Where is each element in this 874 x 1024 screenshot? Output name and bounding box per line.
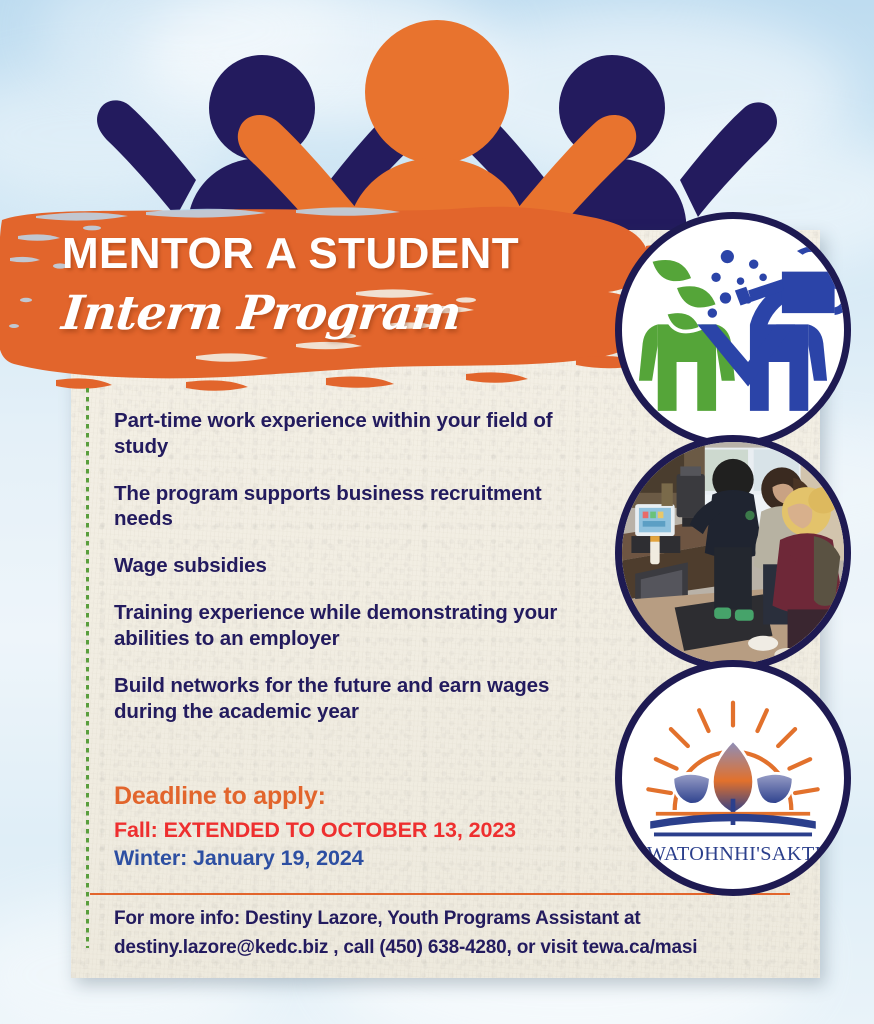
page-title: MENTOR A STUDENT (62, 232, 622, 276)
right-leaf-shape (756, 773, 794, 804)
contact-line-1: For more info: Destiny Lazore, Youth Pro… (114, 905, 814, 934)
list-item: Build networks for the future and earn w… (114, 673, 584, 725)
benefits-list: Part-time work experience within your fi… (114, 408, 584, 745)
mentorship-icon-circle (615, 212, 851, 448)
orange-divider (90, 893, 790, 895)
deadline-block: Deadline to apply: Fall: EXTENDED TO OCT… (114, 782, 634, 871)
deadline-fall: Fall: EXTENDED TO OCTOBER 13, 2023 (114, 818, 634, 843)
watering-mentorship-icon (622, 219, 844, 441)
list-item: Wage subsidies (114, 553, 584, 579)
tewatohnhisaktha-logo: TEWATOHNHI'SAKTHA (622, 667, 844, 889)
plant-leaves-shape (650, 258, 718, 331)
list-item: Part-time work experience within your fi… (114, 408, 584, 460)
logo-wordmark: TEWATOHNHI'SAKTHA (622, 843, 844, 865)
page-subtitle: Intern Program (59, 290, 624, 338)
training-photo-circle (615, 435, 851, 671)
left-leaf-shape (673, 773, 711, 804)
list-item: Training experience while demonstrating … (114, 600, 584, 652)
list-item: The program supports business recruitmen… (114, 481, 584, 533)
dotted-divider (86, 388, 89, 948)
contact-info: For more info: Destiny Lazore, Youth Pro… (114, 905, 814, 962)
cafe-training-photo (622, 442, 844, 664)
headline-block: MENTOR A STUDENT Intern Program (62, 232, 622, 338)
deadline-winter: Winter: January 19, 2024 (114, 846, 634, 871)
contact-line-2: destiny.lazore@kedc.biz , call (450) 638… (114, 934, 814, 963)
deadline-title: Deadline to apply: (114, 782, 634, 811)
tewatohnhisaktha-logo-circle: TEWATOHNHI'SAKTHA (615, 660, 851, 896)
